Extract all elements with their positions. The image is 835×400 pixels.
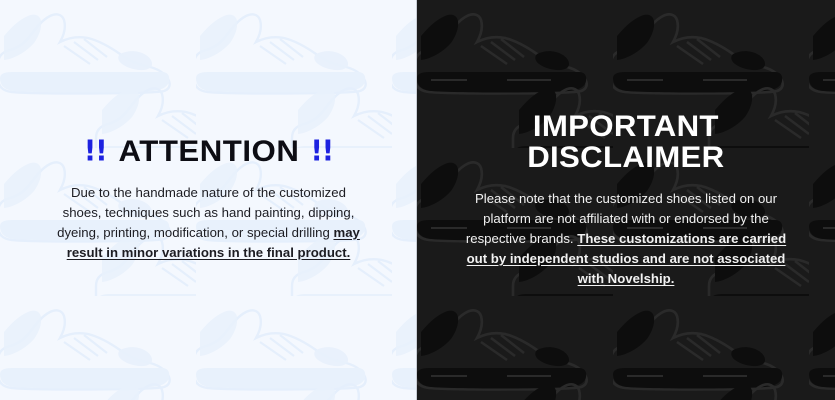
disclaimer-heading-line-1: IMPORTANT [533,110,719,143]
disclaimer-body: Please note that the customized shoes li… [465,189,787,289]
disclaimer-content: IMPORTANT DISCLAIMER Please note that th… [417,0,835,400]
attention-panel: !! ATTENTION !! Due to the handmade natu… [0,0,417,400]
double-exclamation-left-icon: !! [84,138,107,166]
attention-content: !! ATTENTION !! Due to the handmade natu… [0,0,417,400]
double-exclamation-right-icon: !! [310,138,333,166]
disclaimer-banner: !! ATTENTION !! Due to the handmade natu… [0,0,835,400]
disclaimer-heading-line-2: DISCLAIMER [527,141,724,174]
attention-body: Due to the handmade nature of the custom… [53,183,365,263]
attention-heading-row: !! ATTENTION !! [84,137,333,167]
attention-body-normal: Due to the handmade nature of the custom… [57,185,354,240]
panel-divider [416,0,417,400]
disclaimer-panel: IMPORTANT DISCLAIMER Please note that th… [417,0,835,400]
disclaimer-heading: IMPORTANT DISCLAIMER [527,111,724,173]
attention-heading: ATTENTION [118,137,299,167]
